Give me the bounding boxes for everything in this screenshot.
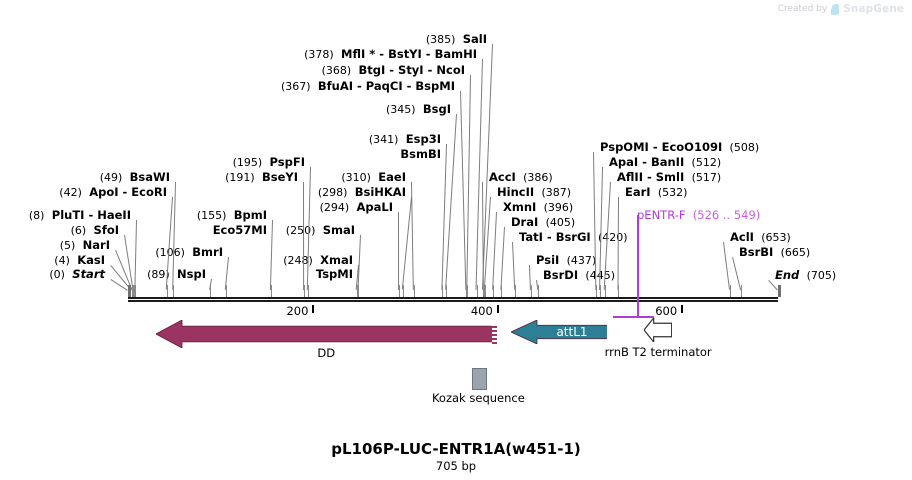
- enzyme-label-l-nari: (5) NarI: [0, 239, 110, 252]
- site-tick: [308, 285, 309, 297]
- feature-arrow-dd[interactable]: [156, 320, 497, 348]
- site-tick: [477, 285, 478, 297]
- ruler-tick: [497, 305, 499, 313]
- site-tick: [515, 285, 516, 297]
- site-tick: [358, 285, 359, 297]
- leader-line: [512, 242, 515, 290]
- enzyme-label-l-apoi: (42) ApoI - EcoRI: [14, 186, 167, 199]
- leader-line: [357, 235, 361, 290]
- leader-line: [723, 242, 730, 290]
- enzyme-label-l-bfuai: (367) BfuAI - PaqCI - BspMI: [242, 80, 455, 93]
- enzyme-label-l-tspmi: TspMI: [245, 268, 353, 280]
- enzyme-label-r-pspomi: PspOMI - EcoO109I (508): [600, 141, 759, 154]
- enzyme-label-l-start: (0) Start: [0, 268, 105, 281]
- enzyme-label-l-bsihkai: (298) BsiHKAI: [278, 186, 406, 199]
- site-tick: [414, 285, 415, 297]
- leader-line: [732, 257, 741, 290]
- site-tick: [442, 285, 443, 297]
- leader-line: [500, 227, 505, 290]
- site-tick: [210, 285, 211, 297]
- site-tick: [271, 285, 272, 297]
- site-tick: [128, 285, 131, 297]
- leader-line: [466, 75, 471, 290]
- site-tick: [531, 285, 532, 297]
- enzyme-label-r-drai: DraI (405): [511, 216, 575, 229]
- enzyme-label-r-xmni: XmnI (396): [503, 201, 573, 214]
- ruler-tick: [681, 305, 683, 313]
- site-tick: [596, 285, 597, 297]
- site-tick: [493, 285, 494, 297]
- site-tick: [741, 285, 742, 297]
- site-tick: [538, 285, 539, 297]
- site-tick: [167, 285, 168, 297]
- site-tick: [357, 285, 358, 297]
- feature-label-rrnb-t2-terminator: rrnB T2 terminator: [548, 345, 768, 359]
- enzyme-label-r-tati: TatI - BsrGI (420): [519, 231, 628, 244]
- enzyme-label-l-btgi: (368) BtgI - StyI - NcoI: [256, 64, 465, 77]
- enzyme-label-r-aflii: AflII - SmlI (517): [617, 171, 721, 184]
- feature-label-dd: DD: [216, 346, 436, 360]
- site-tick: [173, 285, 174, 297]
- enzyme-label-l-sfoi: (6) SfoI: [0, 224, 119, 237]
- ruler-tick-label: 400: [443, 304, 493, 318]
- sequence-backbone: [128, 297, 778, 302]
- ruler-tick-label: 200: [258, 304, 308, 318]
- enzyme-label-l-xmai: (248) XmaI: [245, 254, 353, 267]
- feature-label-attl1: attL1: [511, 325, 608, 339]
- page-title: pL106P-LUC-ENTR1A(w451-1): [0, 440, 912, 458]
- site-tick: [134, 285, 135, 297]
- site-tick: [135, 285, 136, 297]
- leader-line: [303, 182, 304, 290]
- enzyme-label-l-eaei: (310) EaeI: [297, 171, 406, 184]
- leader-line: [398, 212, 399, 290]
- feature-kozak-sequence[interactable]: [472, 368, 487, 390]
- leader-line: [482, 44, 493, 290]
- site-tick: [501, 285, 502, 297]
- enzyme-label-l-bmri: (106) BmrI: [104, 246, 223, 259]
- backbone-line-gap: [128, 299, 778, 300]
- feature-dd-truncation: [492, 324, 497, 344]
- enzyme-label-r-apai: ApaI - BanII (512): [609, 156, 721, 169]
- enzyme-label-r-psii: PsiI (437): [536, 254, 596, 267]
- enzyme-label-r-end: End (705): [775, 269, 836, 282]
- site-tick: [403, 285, 404, 297]
- site-tick: [618, 285, 619, 297]
- plasmid-map-canvas: Created by SnapGene (0) Start(4) KasI(5)…: [0, 0, 912, 480]
- leader-line: [411, 182, 414, 290]
- enzyme-label-l-esp3i: (341) Esp3I: [352, 133, 441, 146]
- enzyme-label-l-bsgi: (345) BsgI: [369, 103, 451, 116]
- leader-line: [460, 91, 466, 290]
- enzyme-label-l-pluti: (8) PluTI - HaeII: [0, 209, 131, 222]
- enzyme-label-r-eari: EarI (532): [625, 186, 687, 199]
- site-tick: [605, 285, 606, 297]
- ruler-tick: [312, 305, 314, 313]
- site-tick: [446, 285, 447, 297]
- snapgene-watermark: Created by SnapGene: [778, 3, 904, 15]
- primer-span-bar: [613, 316, 654, 318]
- plasmid-length: 705 bp: [0, 459, 912, 473]
- primer-label-pentr-f: pENTR-F (526 .. 549): [637, 208, 760, 222]
- enzyme-label-l-bsawi: (49) BsaWI: [51, 171, 170, 184]
- snapgene-leaf-icon: [831, 4, 839, 15]
- site-tick: [399, 285, 400, 297]
- enzyme-label-l-kasi: (4) KasI: [0, 254, 105, 267]
- site-tick: [485, 285, 486, 297]
- leader-line: [492, 212, 497, 290]
- site-tick: [600, 285, 601, 297]
- primer-leader-line: [637, 215, 639, 318]
- site-tick: [778, 285, 781, 297]
- feature-label-kozak-sequence: Kozak sequence: [378, 391, 578, 405]
- watermark-brand: SnapGene: [843, 3, 904, 15]
- site-tick: [730, 285, 731, 297]
- enzyme-label-l-mfli: (378) MflI * - BstYI - BamHI: [268, 48, 477, 61]
- leader-line: [445, 114, 457, 290]
- enzyme-label-r-hincii: HincII (387): [497, 186, 571, 199]
- enzyme-label-l-smai: (250) SmaI: [245, 224, 355, 237]
- site-tick: [226, 285, 227, 297]
- feature-arrow-rrnb-t2-terminator[interactable]: [644, 318, 672, 342]
- enzyme-label-l-bsmbi: BsmBI: [352, 148, 441, 160]
- enzyme-label-l-pspfi: (195) PspFI: [186, 156, 305, 169]
- enzyme-label-l-sali: (385) SalI: [406, 33, 487, 46]
- leader-line: [402, 197, 412, 290]
- site-tick: [304, 285, 305, 297]
- enzyme-label-r-bsrbi: BsrBI (665): [739, 246, 810, 259]
- enzyme-label-r-acli: AclI (653): [730, 231, 791, 244]
- enzyme-label-l-bseyi: (191) BseYI: [180, 171, 298, 184]
- enzyme-label-l-apali: (294) ApaLI: [278, 201, 393, 214]
- enzyme-label-r-acci: AccI (386): [489, 171, 553, 184]
- site-tick: [467, 285, 468, 297]
- watermark-prefix: Created by: [778, 4, 828, 14]
